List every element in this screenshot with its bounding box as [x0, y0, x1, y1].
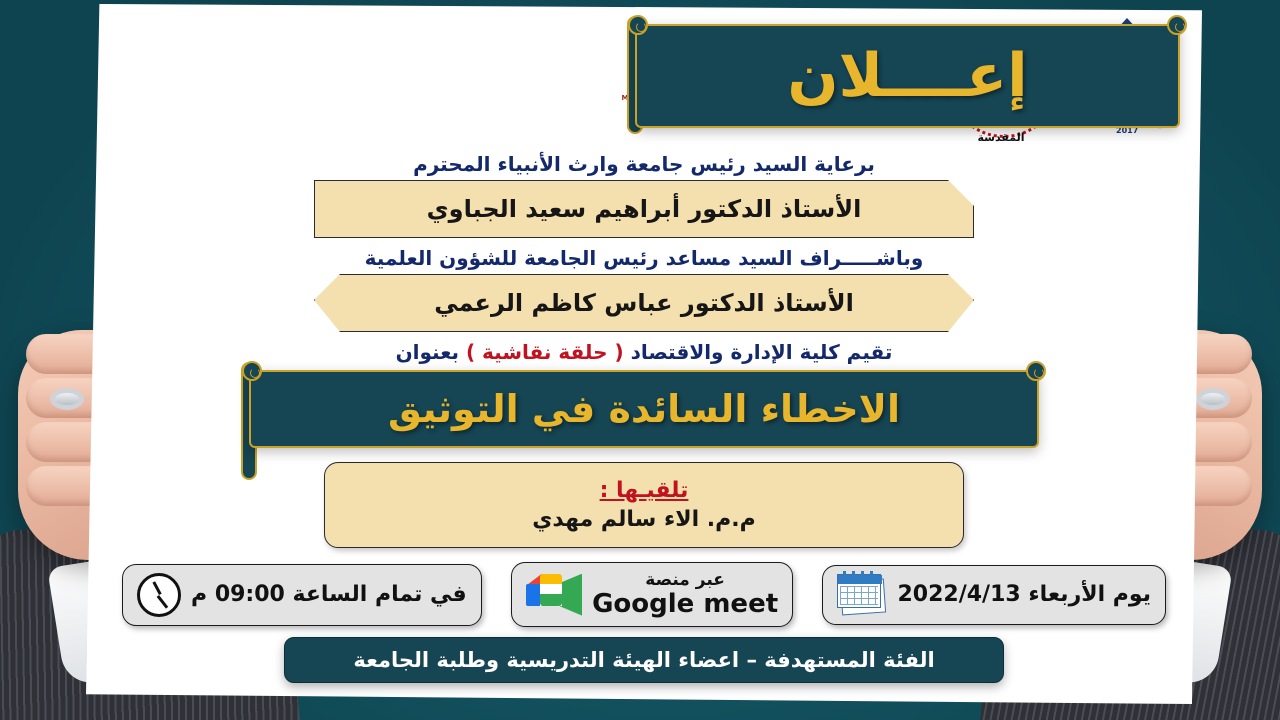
date-text: يوم الأربعاء 2022/4/13 — [897, 582, 1151, 607]
ring-icon — [50, 388, 84, 410]
event-intro-after: بعنوان — [396, 340, 466, 364]
target-audience-text: الفئة المستهدفة – اعضاء الهيئة التدريسية… — [353, 648, 934, 672]
announcement-poster: وارث الانبياء 2017 UNIVERSITY OF WARITH … — [86, 4, 1202, 704]
supervision-label: وباشـــــراف السيد مساعد رئيس الجامعة لل… — [108, 246, 1180, 270]
info-chips-row: يوم الأربعاء 2022/4/13 عبر منصة Google m… — [122, 562, 1166, 627]
platform-chip: عبر منصة Google meet — [511, 562, 793, 627]
presenter-name: م.م. الاء سالم مهدي — [532, 507, 756, 532]
event-intro: تقيم كلية الإدارة والاقتصاد ( حلقة نقاشي… — [108, 340, 1180, 364]
clock-icon — [137, 573, 181, 617]
poster-scene: وارث الانبياء 2017 UNIVERSITY OF WARITH … — [0, 0, 1280, 720]
calendar-icon — [837, 574, 887, 616]
platform-arabic-label: عبر منصة — [645, 570, 725, 590]
patron-name-plate: الأستاذ الدكتور أبراهيم سعيد الجباوي — [314, 180, 974, 238]
scroll-curl-icon — [242, 361, 262, 381]
presenter-label: تلقيـها : — [600, 478, 689, 503]
supervisor-name-plate: الأستاذ الدكتور عباس كاظم الرعمي — [314, 274, 974, 332]
scroll-curl-icon — [628, 15, 648, 35]
platform-name: Google meet — [592, 589, 778, 619]
target-audience-bar: الفئة المستهدفة – اعضاء الهيئة التدريسية… — [284, 637, 1004, 683]
announcement-title: إعــــلان — [787, 46, 1027, 106]
shrine-bottom-text: المقدسة — [942, 131, 1060, 144]
ring-icon — [1196, 388, 1230, 410]
event-type-highlight: ( حلقة نقاشية ) — [466, 340, 624, 364]
time-text: في تمام الساعة 09:00 م — [191, 582, 467, 607]
main-title-text: الاخطاء السائدة في التوثيق — [388, 387, 900, 431]
header-banner: إعــــلان — [635, 24, 1180, 128]
date-chip: يوم الأربعاء 2022/4/13 — [822, 565, 1166, 625]
main-title-banner: الاخطاء السائدة في التوثيق — [249, 370, 1039, 448]
google-meet-icon — [526, 574, 582, 616]
time-chip: في تمام الساعة 09:00 م — [122, 564, 482, 626]
event-intro-before: تقيم كلية الإدارة والاقتصاد — [624, 340, 893, 364]
scroll-curl-icon — [1026, 361, 1046, 381]
scroll-curl-icon — [1167, 15, 1187, 35]
presenter-plate: تلقيـها : م.م. الاء سالم مهدي — [324, 462, 964, 548]
patronage-label: برعاية السيد رئيس جامعة وارث الأنبياء ال… — [108, 152, 1180, 176]
